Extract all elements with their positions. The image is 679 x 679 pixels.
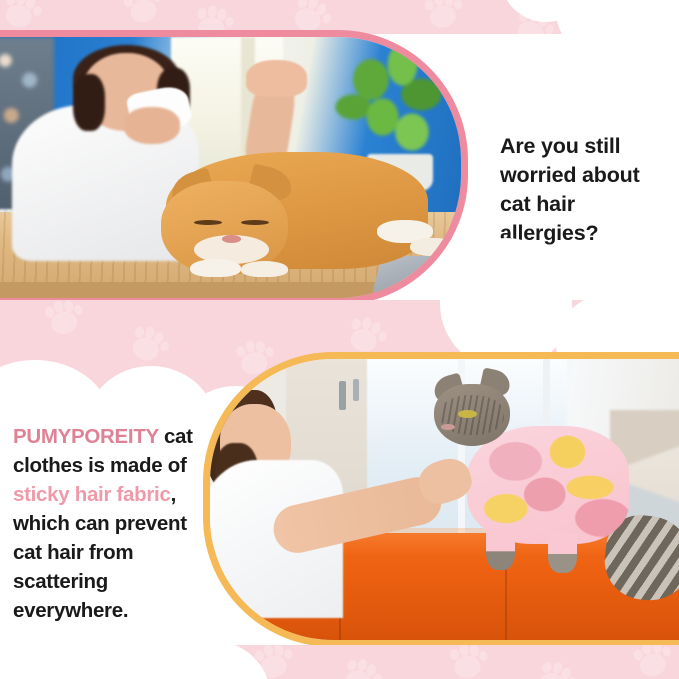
photo-cat-onesie-scene [203,352,679,647]
brand-name: PUMYPOREITY [13,425,159,448]
headline-text: Are you still worried about cat hair all… [500,132,672,248]
body-copy-highlight-2: hair fabric [75,483,171,506]
body-copy-segment-3: , [171,483,176,506]
body-copy-segment-4: which can prevent cat hair from scatteri… [13,512,187,622]
photo-allergy-scene [0,30,468,305]
body-copy-text: PUMYPOREITY cat clothes is made of stick… [13,422,209,625]
photo-cat-onesie-scene-content [210,359,679,640]
product-poster: Are you still worried about cat hair all… [0,0,679,679]
body-copy-highlight-1: sticky [13,483,69,506]
body-copy-segment-2: made of [110,454,187,477]
photo-allergy-scene-content [0,37,461,298]
cloud-scallop [440,238,572,370]
